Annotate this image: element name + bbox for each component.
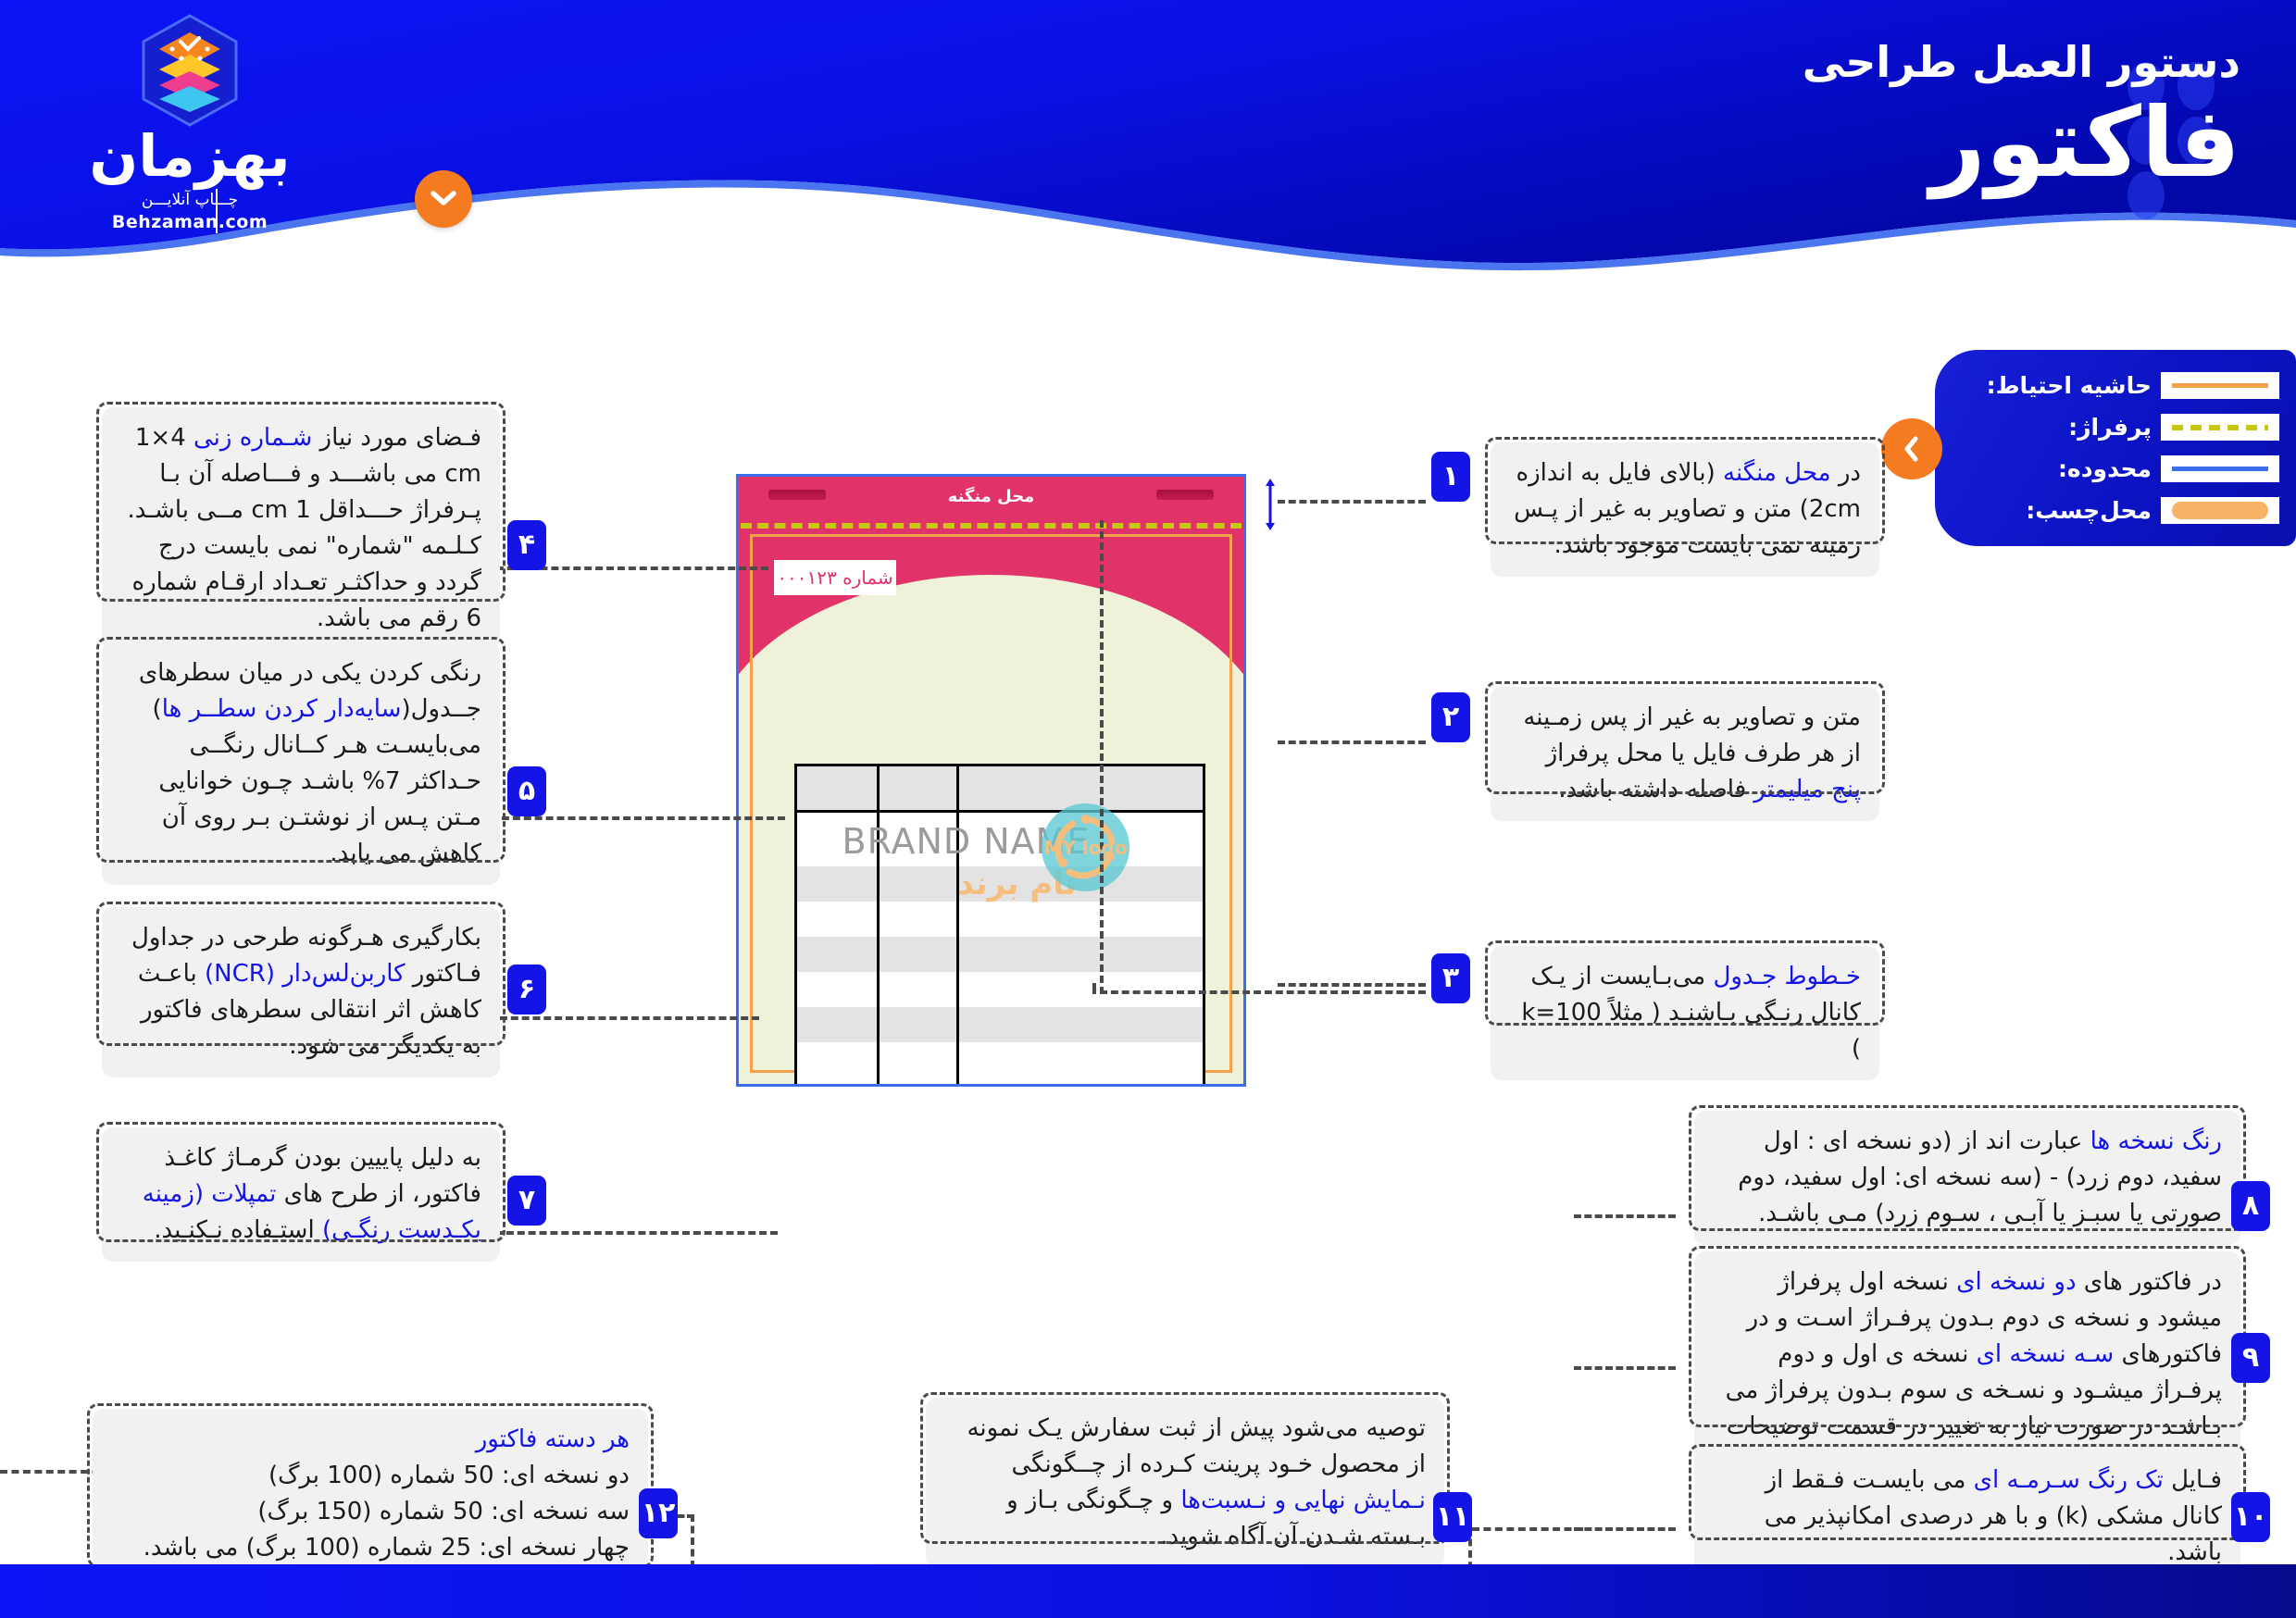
- leader-line-8: [1574, 1214, 1676, 1218]
- callout-12: هر دسته فاکتور دو نسخه ای: 50 شماره (100…: [93, 1409, 648, 1579]
- leader-line-11: [1472, 1527, 1583, 1531]
- callout-12-badge: ۱۲: [639, 1488, 678, 1538]
- callout-2-text: متن و تصاویر به غیر از پس زمـینه از هر ط…: [1523, 703, 1861, 803]
- callout-11-text: توصیه می‌شود پیش از ثبت سفارش یـک نمونه …: [967, 1414, 1426, 1550]
- legend-label-boundary: محدوده:: [2040, 455, 2152, 482]
- callout-3-text: خـطوط جـدول می‌بـایست از یـک کانال رنـگی…: [1521, 963, 1861, 1063]
- header-subtitle: دستور العمل طراحی: [944, 37, 2240, 87]
- callout-4: فـضای مورد نیاز شـماره زنی 4×1 cm می باش…: [102, 407, 500, 650]
- leader-line-10: [1574, 1527, 1676, 1531]
- legend-label-perforation: پرفراژ:: [2040, 414, 2152, 441]
- page-title: فاکتور: [944, 93, 2240, 193]
- callout-6-badge: ۶: [507, 965, 546, 1014]
- callout-7: به دلیل پاییین بودن گرمـاژ کاغـذ فاکتور،…: [102, 1127, 500, 1262]
- callout-4-badge: ۴: [507, 520, 546, 570]
- leader-line-6: [500, 1016, 759, 1020]
- legend-row-safety-margin: حاشیه احتیاط:: [1972, 365, 2279, 406]
- leader-line-1: [1278, 500, 1426, 504]
- dimension-arrow-2cm: [1264, 478, 1277, 531]
- callout-11: توصیه می‌شود پیش از ثبت سفارش یـک نمونه …: [926, 1398, 1444, 1568]
- legend-row-boundary: محدوده:: [1972, 448, 2279, 490]
- legend-panel: حاشیه احتیاط: پرفراژ: محدوده: محل‌چسب:: [1935, 350, 2296, 546]
- scroll-down-button[interactable]: [415, 170, 472, 228]
- callout-4-text: فـضای مورد نیاز شـماره زنی 4×1 cm می باش…: [128, 424, 481, 632]
- leader-line-5: [491, 816, 785, 820]
- callout-12-text: هر دسته فاکتور دو نسخه ای: 50 شماره (100…: [143, 1425, 630, 1562]
- logo-domain: Behzaman.com: [51, 212, 329, 232]
- callout-10-text: فـایل تک رنگ سـرمـه ای می بایسـت فـقط از…: [1765, 1466, 2222, 1566]
- legend-swatch-safety-margin: [2161, 372, 2279, 399]
- callout-1-badge: ۱: [1431, 452, 1470, 502]
- callout-5-badge: ۵: [507, 766, 546, 816]
- mockup-logo-text: MY logo: [1044, 837, 1128, 859]
- leader-line-3: [1278, 983, 1426, 987]
- callout-5-text: رنگی کردن یکی در میان سطرهای جــدول(سایه…: [139, 659, 481, 867]
- callout-3: خـطوط جـدول می‌بـایست از یـک کانال رنـگی…: [1491, 946, 1879, 1080]
- callout-9-text: در فاکتور های دو نسخه ای نسخه اول پرفراژ…: [1726, 1268, 2222, 1476]
- callout-2: متن و تصاویر به غیر از پس زمـینه از هر ط…: [1491, 687, 1879, 821]
- page-footer: [0, 1564, 2296, 1618]
- legend-swatch-perforation: [2161, 414, 2279, 441]
- brand-logo[interactable]: بهزمان چـــاپ آنلایـــن Behzaman.com: [51, 9, 329, 194]
- logo-wordmark: بهزمان: [51, 128, 329, 185]
- leader-line-2-vert: [1100, 520, 1104, 994]
- callout-8-text: رنگ نسخه ها عبارت اند از (دو نسخه ای : ا…: [1738, 1127, 2222, 1227]
- logo-tagline: چـــاپ آنلایـــن: [51, 191, 329, 209]
- chevron-left-icon: [1903, 435, 1921, 463]
- callout-8: رنگ نسخه ها عبارت اند از (دو نسخه ای : ا…: [1694, 1111, 2240, 1245]
- boundary-frame: [736, 474, 1246, 1087]
- legend-swatch-boundary: [2161, 455, 2279, 482]
- callout-6-text: بکارگیری هـرگونه طرحی در جداول فـاکتور ک…: [131, 924, 481, 1060]
- legend-label-glue-area: محل‌چسب:: [2040, 497, 2152, 524]
- chevron-down-icon: [430, 190, 457, 208]
- leader-line-2b: [1100, 990, 1426, 994]
- layers-hexagon-icon: [139, 14, 241, 127]
- callout-10-badge: ۱۰: [2231, 1492, 2270, 1542]
- infographic-page: دستور العمل طراحی فاکتور بهزمان چـــاپ آ…: [0, 0, 2296, 1618]
- callout-3-badge: ۳: [1431, 953, 1470, 1003]
- callout-2-badge: ۲: [1431, 692, 1470, 742]
- callout-8-badge: ۸: [2231, 1181, 2270, 1231]
- legend-row-glue-area: محل‌چسب:: [1972, 490, 2279, 531]
- callout-5: رنگی کردن یکی در میان سطرهای جــدول(سایه…: [102, 642, 500, 885]
- callout-1: در محل منگنه (بالای فایل به اندازه 2cm) …: [1491, 442, 1879, 577]
- callout-9-badge: ۹: [2231, 1333, 2270, 1383]
- page-header: دستور العمل طراحی فاکتور بهزمان چـــاپ آ…: [0, 0, 2296, 305]
- legend-label-safety-margin: حاشیه احتیاط:: [2040, 372, 2152, 399]
- callout-11-badge: ۱۱: [1433, 1492, 1472, 1542]
- callout-6: بکارگیری هـرگونه طرحی در جداول فـاکتور ک…: [102, 907, 500, 1077]
- leader-line-3-vert: [1092, 983, 1096, 994]
- legend-swatch-glue-area: [2161, 497, 2279, 524]
- callout-7-text: به دلیل پاییین بودن گرمـاژ کاغـذ فاکتور،…: [143, 1144, 481, 1244]
- invoice-mockup: محل منگنه شماره ۰۰۰۱۲۳ BRAND NAME نام بر…: [736, 474, 1246, 1087]
- callout-7-badge: ۷: [507, 1176, 546, 1226]
- leader-line-2: [1278, 741, 1426, 744]
- leader-line-9: [1574, 1366, 1676, 1370]
- callout-1-text: در محل منگنه (بالای فایل به اندازه 2cm) …: [1514, 459, 1861, 559]
- legend-row-perforation: پرفراژ:: [1972, 406, 2279, 448]
- legend-collapse-button[interactable]: [1881, 418, 1942, 479]
